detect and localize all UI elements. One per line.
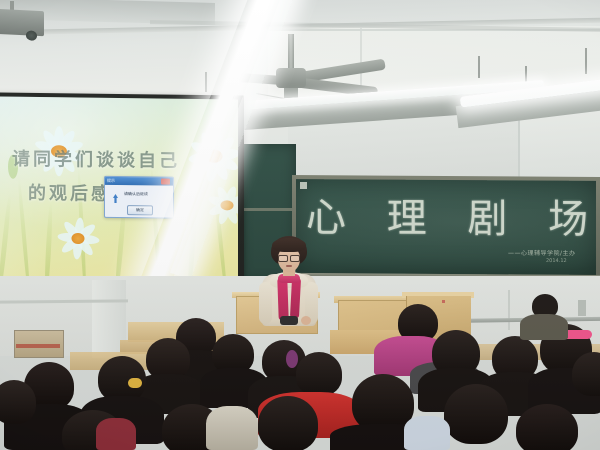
student-light-top: [404, 416, 450, 450]
ceiling-fan-stem: [288, 34, 294, 72]
projected-dialog[interactable]: 提示 请确认后继续 确定: [104, 176, 174, 219]
student-hair-tie: [286, 350, 298, 368]
student-maroon-top: [96, 418, 136, 450]
chalkboard-title: 心 理 剧 场: [306, 187, 592, 251]
dialog-title-text: 提示: [107, 177, 153, 186]
student-head-front: [444, 384, 508, 444]
student-head: [0, 380, 36, 424]
eyeglasses-icon: [278, 255, 300, 260]
student-hair-tie: [128, 378, 142, 388]
close-icon[interactable]: [161, 179, 170, 185]
lamp-rod: [478, 56, 480, 78]
chalkboard-subtitle-small: 2014.12: [546, 258, 567, 264]
wall-fixture: [578, 300, 586, 316]
cabinet-marker: [442, 300, 445, 303]
wall-seam: [508, 290, 510, 330]
lamp-rod: [205, 72, 207, 92]
presenter-bangs: [272, 238, 306, 252]
ceiling-fan-motor: [276, 68, 306, 88]
student-head-front: [516, 404, 578, 450]
wall-plaque-stripe: [16, 344, 60, 348]
presenter-scarf: [277, 278, 288, 320]
lamp-rod: [585, 48, 587, 74]
presenter: [258, 236, 320, 322]
daisy-flower: [52, 215, 104, 262]
slide-text-line-1: 请同学们谈谈自己: [12, 145, 180, 173]
chalkboard-rail: [238, 208, 296, 211]
student-shoulders: [520, 314, 568, 340]
presenter-mouth: [286, 265, 292, 267]
classroom-photo: 心 理 剧 场 ——心理辅导学院/主办 2014.12: [0, 0, 600, 450]
student-light-jacket: [206, 406, 258, 450]
student-head-front: [258, 396, 318, 450]
dialog-ok-button[interactable]: 确定: [127, 205, 153, 215]
projector-lens-icon: [26, 30, 37, 41]
student-head: [296, 352, 342, 396]
dialog-message: 请确认后继续: [124, 191, 168, 198]
ceiling-projector: [0, 9, 44, 37]
presenter-arm: [259, 282, 272, 324]
presenter-held-object: [280, 316, 298, 325]
presenter-hand: [301, 316, 311, 325]
info-icon: [111, 190, 120, 201]
chalkboard-subtitle: ——心理辅导学院/主办: [508, 248, 594, 258]
